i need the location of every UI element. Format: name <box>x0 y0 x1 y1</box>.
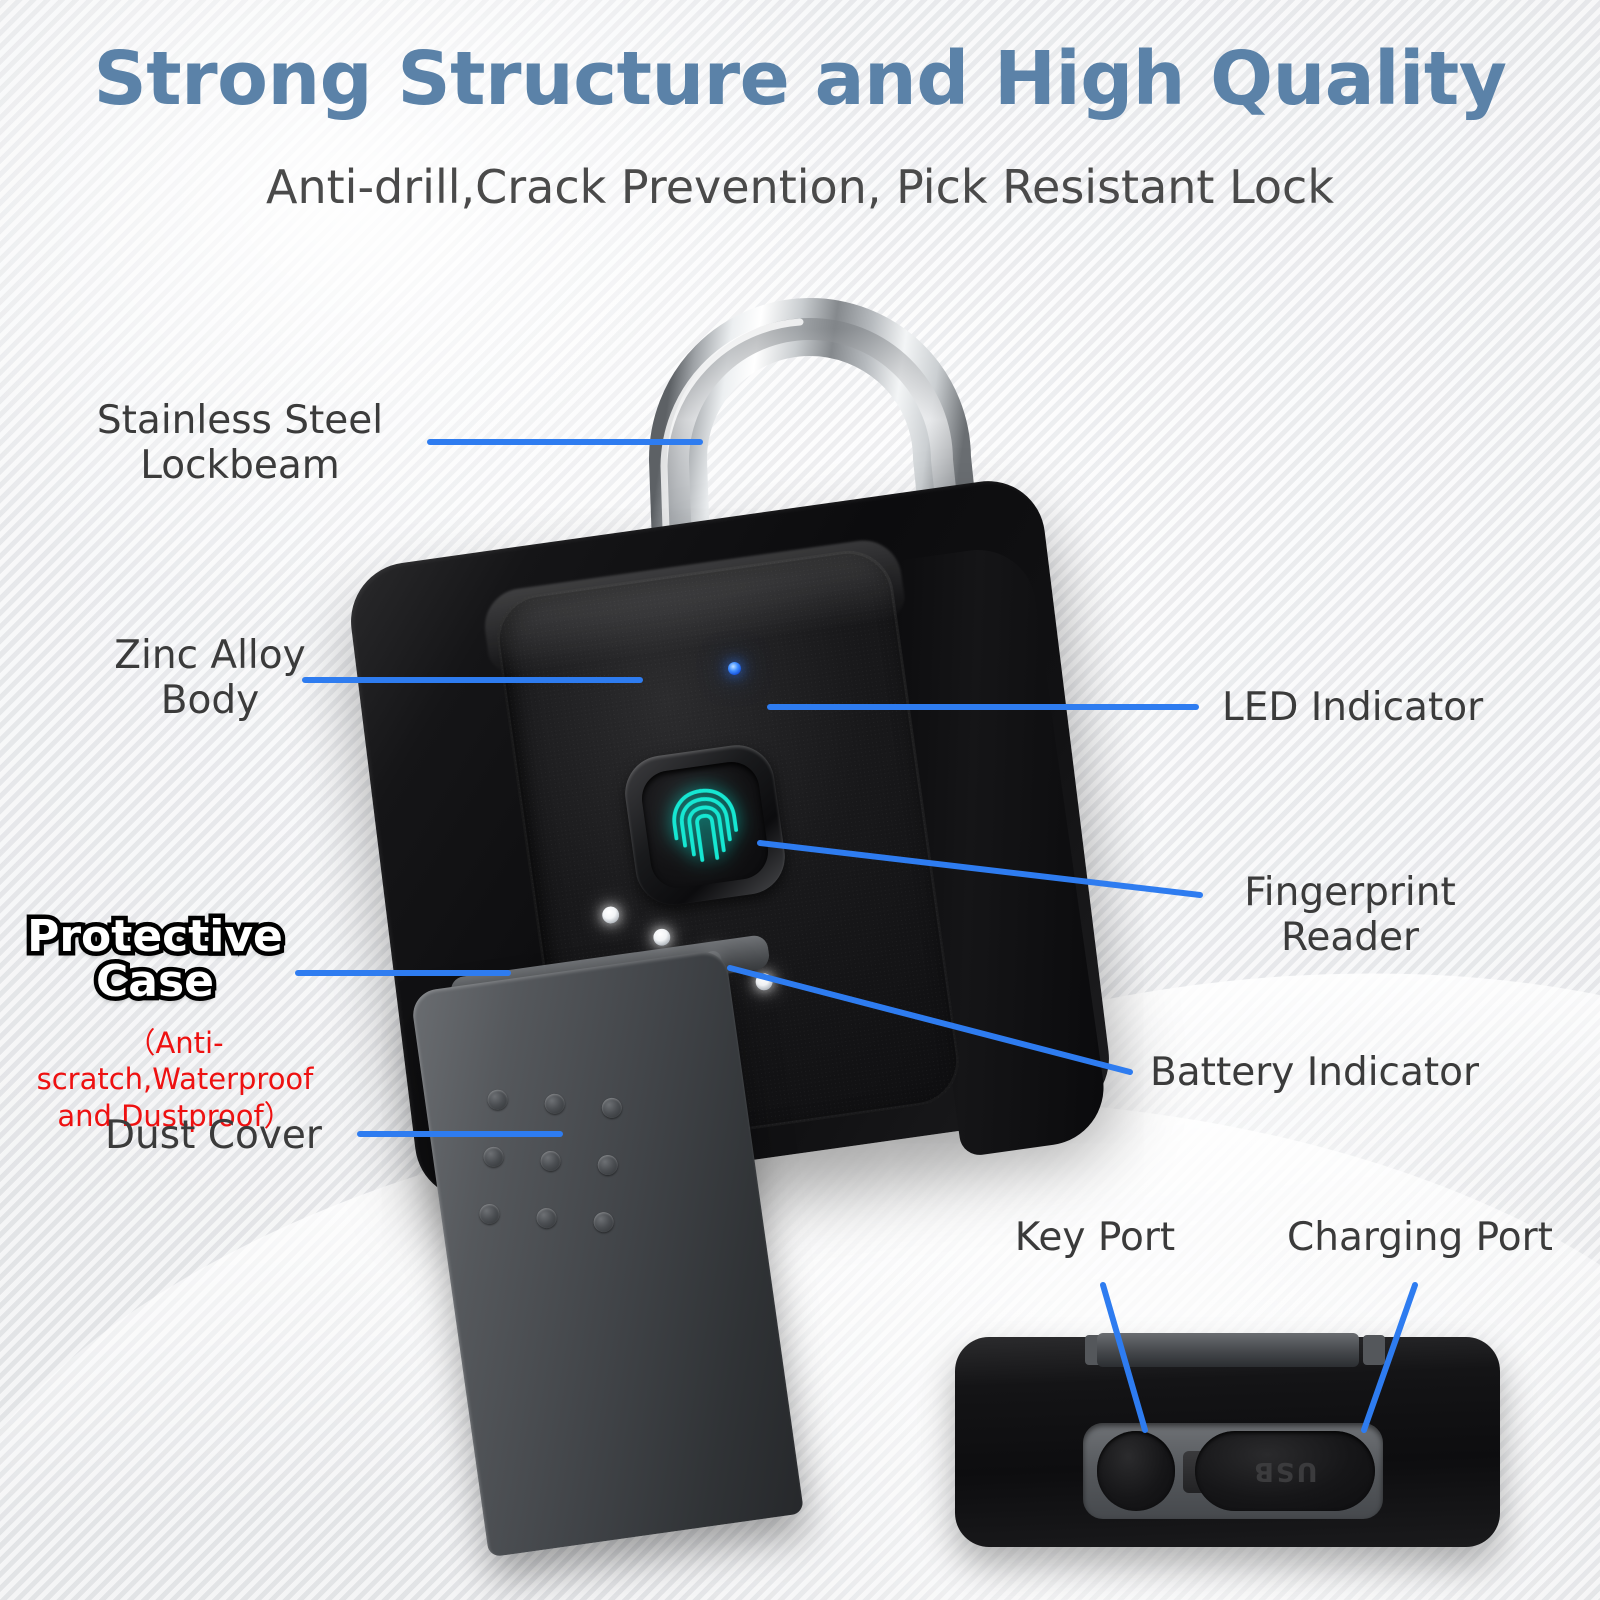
leader-fingerprint <box>760 843 1200 895</box>
leader-lines <box>0 0 1600 1600</box>
label-dust-cover: Dust Cover <box>105 1113 322 1158</box>
label-battery-indicator: Battery Indicator <box>1150 1050 1479 1095</box>
label-fingerprint-reader: Fingerprint Reader <box>1205 870 1495 960</box>
leader-key-port <box>1103 1285 1145 1430</box>
label-key-port: Key Port <box>955 1215 1235 1260</box>
leader-charging-port <box>1364 1285 1415 1430</box>
label-lockbeam: Stainless Steel Lockbeam <box>60 398 420 488</box>
leader-battery <box>730 968 1130 1072</box>
infographic-canvas: Strong Structure and High Quality Anti-d… <box>0 0 1600 1600</box>
label-zinc-alloy-body: Zinc Alloy Body <box>40 633 380 723</box>
label-led-indicator: LED Indicator <box>1222 685 1483 730</box>
label-protective-case: Protective Case <box>20 915 290 1005</box>
label-charging-port: Charging Port <box>1250 1215 1590 1260</box>
